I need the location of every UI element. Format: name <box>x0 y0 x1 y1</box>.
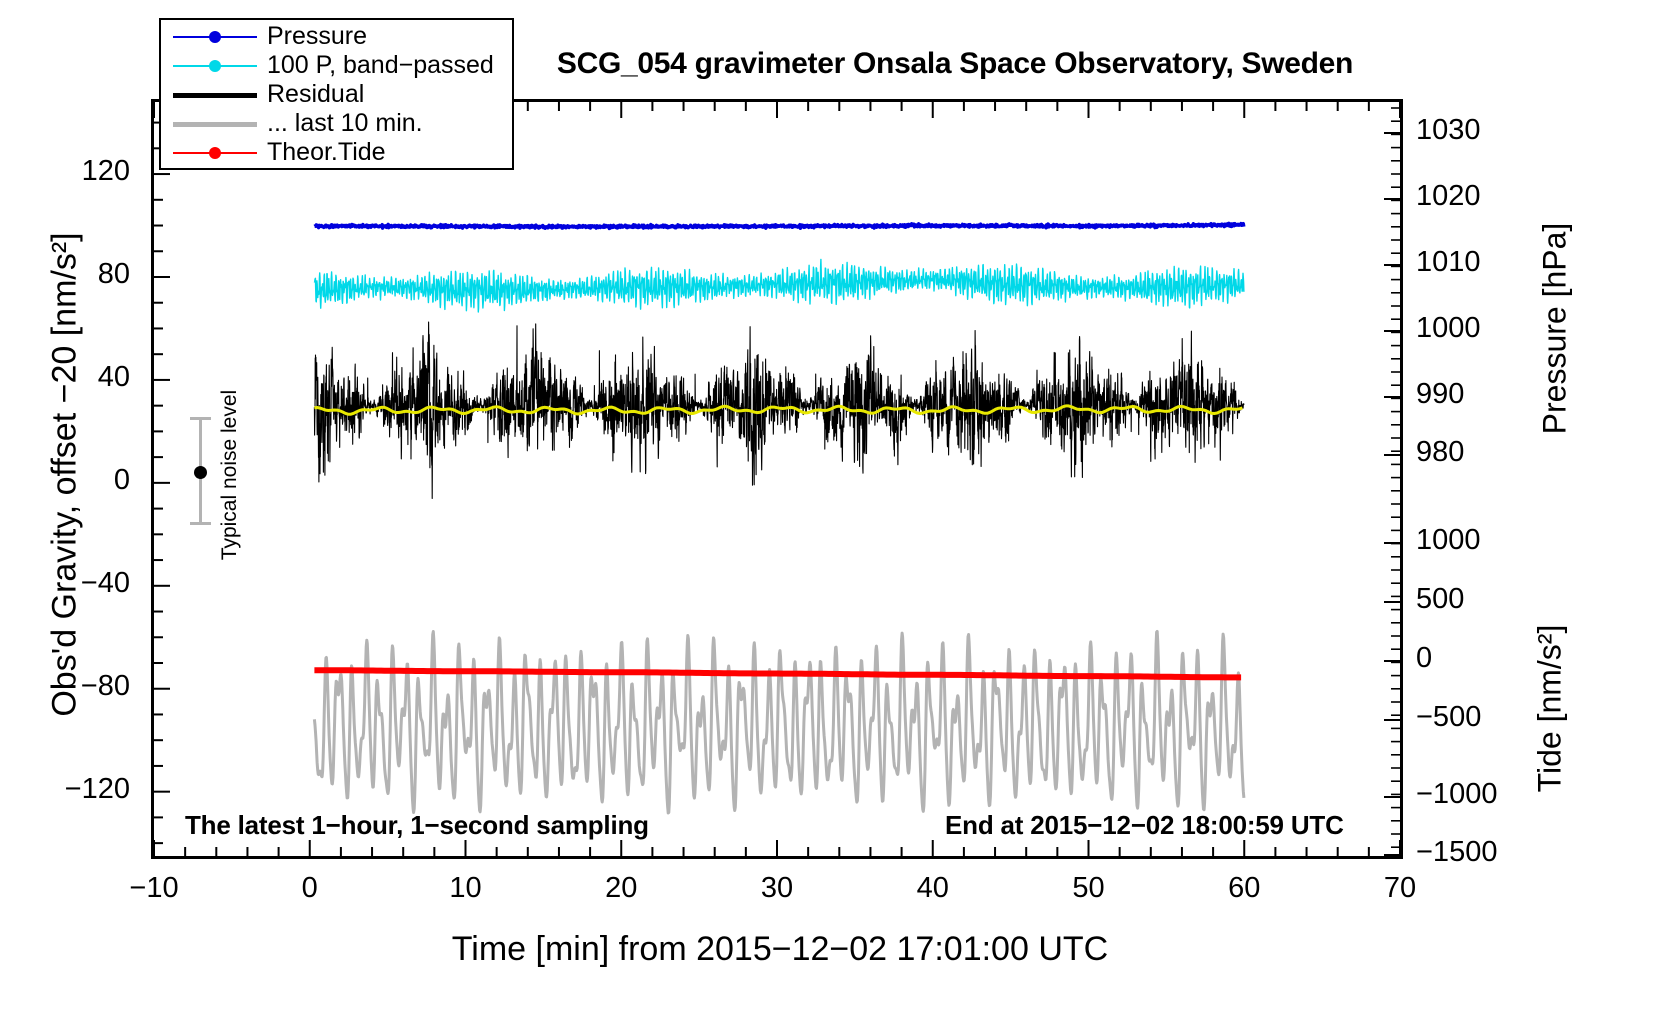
footer-end-time-note: End at 2015−12−02 18:00:59 UTC <box>945 810 1344 841</box>
legend-item-0[interactable]: Pressure <box>161 22 512 51</box>
legend-label: Pressure <box>259 22 367 51</box>
legend-item-1[interactable]: 100 P, band−passed <box>161 51 512 80</box>
y-axis-tide-title: Tide [nm/s²] <box>1532 539 1569 879</box>
footer-sampling-note: The latest 1−hour, 1−second sampling <box>185 810 649 841</box>
legend-item-3[interactable]: ... last 10 min. <box>161 109 512 138</box>
x-tick-label: 70 <box>1340 872 1460 905</box>
x-tick-label: 50 <box>1029 872 1149 905</box>
legend: Pressure100 P, band−passedResidual... la… <box>159 18 514 170</box>
y-tick-label-tide: 0 <box>1416 642 1546 675</box>
legend-line-icon <box>171 114 259 134</box>
y-axis-pressure-title: Pressure [hPa] <box>1537 129 1574 529</box>
x-tick-label: 10 <box>406 872 526 905</box>
series-theoretical-tide <box>314 670 1241 677</box>
noise-center-dot-icon <box>194 466 207 479</box>
y-tick-label-tide: −500 <box>1416 701 1546 734</box>
y-tick-label-tide: 1000 <box>1416 524 1546 557</box>
x-axis-title: Time [min] from 2015−12−02 17:01:00 UTC <box>230 930 1330 969</box>
y-tick-label-pressure: 980 <box>1416 436 1546 469</box>
legend-label: ... last 10 min. <box>259 109 423 138</box>
noise-level-label: Typical noise level <box>218 380 242 570</box>
legend-line-icon <box>171 85 259 105</box>
series-last-10-min <box>314 631 1244 813</box>
y-tick-label-pressure: 1030 <box>1416 114 1546 147</box>
y-tick-label-pressure: 990 <box>1416 378 1546 411</box>
legend-item-2[interactable]: Residual <box>161 80 512 109</box>
page-title: SCG_054 gravimeter Onsala Space Observat… <box>520 47 1390 81</box>
y-tick-label-tide: 500 <box>1416 583 1546 616</box>
noise-errorbar-cap-top <box>190 417 211 420</box>
typical-noise-level-annotation: Typical noise level <box>180 405 250 595</box>
x-tick-label: 60 <box>1184 872 1304 905</box>
y-tick-label-tide: −1500 <box>1416 836 1546 869</box>
x-tick-label: 30 <box>717 872 837 905</box>
y-tick-label-tide: −1000 <box>1416 778 1546 811</box>
y-axis-left-title: Obs'd Gravity, offset −20 [nm/s²] <box>46 125 85 825</box>
series-band-passed-pressure <box>314 259 1244 312</box>
legend-line-marker-icon <box>171 143 259 163</box>
y-tick-label-pressure: 1010 <box>1416 246 1546 279</box>
series-pressure <box>314 223 1243 228</box>
x-tick-label: 20 <box>561 872 681 905</box>
legend-label: Theor.Tide <box>259 138 386 167</box>
legend-item-4[interactable]: Theor.Tide <box>161 138 512 167</box>
plot-area <box>154 102 1400 856</box>
legend-line-marker-icon <box>171 56 259 76</box>
series-canvas <box>154 102 1400 856</box>
legend-line-marker-icon <box>171 27 259 47</box>
x-tick-label: 0 <box>250 872 370 905</box>
x-tick-label: 40 <box>873 872 993 905</box>
legend-label: Residual <box>259 80 364 109</box>
y-tick-label-pressure: 1020 <box>1416 180 1546 213</box>
legend-label: 100 P, band−passed <box>259 51 494 80</box>
x-tick-label: −10 <box>94 872 214 905</box>
noise-errorbar-cap-bottom <box>190 522 211 525</box>
gravimeter-plot-figure: SCG_054 gravimeter Onsala Space Observat… <box>0 0 1660 1020</box>
y-tick-label-pressure: 1000 <box>1416 312 1546 345</box>
